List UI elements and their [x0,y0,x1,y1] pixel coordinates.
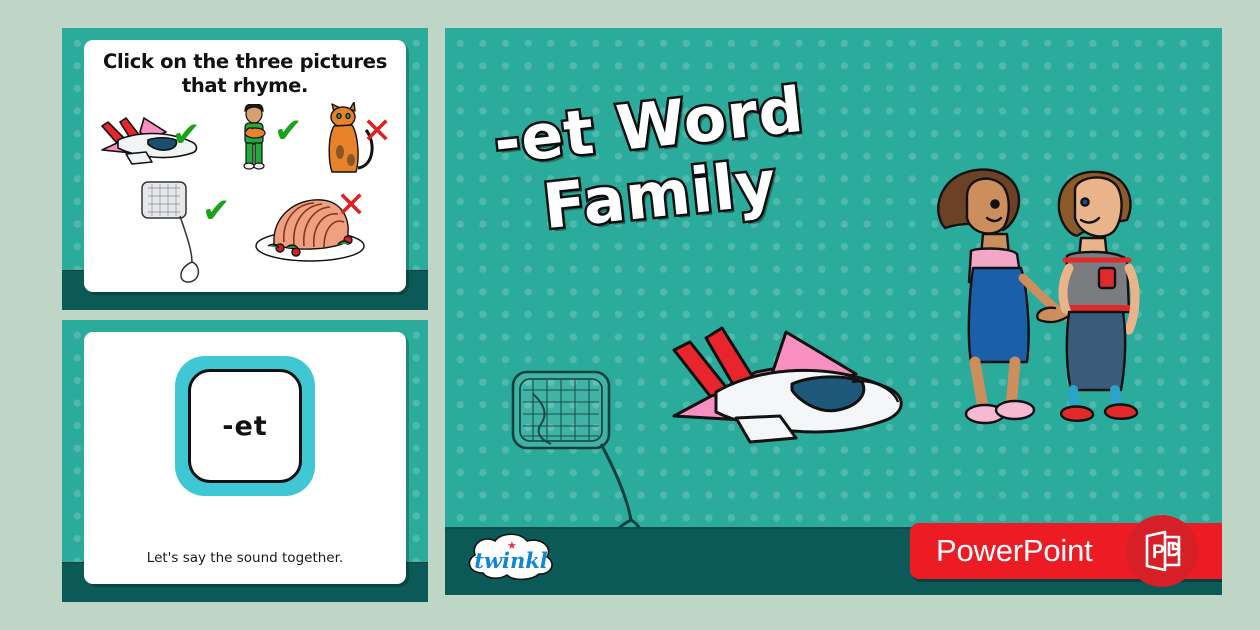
twinkl-logo[interactable]: twinkl ★ [463,533,559,585]
children-shaking-hands-illustration [923,156,1143,426]
fly-swatter-illustration [138,178,210,288]
net-check-icon: ✔ [202,194,231,228]
ham-cross-icon: ✕ [336,188,366,224]
sound-chip: -et [175,356,315,496]
jet-check-icon: ✔ [172,118,201,152]
twinkl-star-icon: ★ [507,541,517,552]
sound-caption: Let's say the sound together. [84,548,406,568]
slide-thumbnail-column: Click on the three pictures that rhyme. … [62,28,428,602]
thumbnail-card: -et Let's say the sound together. [84,332,406,584]
sound-chip-inner: -et [188,369,302,483]
slide-title: -et Word Family [491,65,903,246]
powerpoint-glyph: P [1139,528,1185,574]
fighter-jet-illustration [660,320,920,450]
sound-chip-label: -et [222,411,267,442]
thumbnail-sound-intro[interactable]: -et Let's say the sound together. [62,320,428,602]
main-slide-preview[interactable]: -et Word Family [445,28,1222,595]
thumbnail-title: Click on the three pictures that rhyme. [84,50,406,98]
cat-cross-icon: ✕ [362,114,392,150]
powerpoint-letter: P [1152,542,1165,563]
thumbnail-picture-stage: ✔ ✔ [84,102,406,292]
vet-check-icon: ✔ [274,114,303,148]
slide-footer-bar: twinkl ★ PowerPoint P [445,527,1222,595]
powerpoint-label: PowerPoint [936,533,1093,569]
powerpoint-icon: P [1126,515,1198,587]
thumbnail-card: Click on the three pictures that rhyme. … [84,40,406,292]
powerpoint-badge[interactable]: PowerPoint P [910,523,1222,579]
thumbnail-rhyme-activity[interactable]: Click on the three pictures that rhyme. … [62,28,428,310]
vet-illustration [232,104,276,170]
